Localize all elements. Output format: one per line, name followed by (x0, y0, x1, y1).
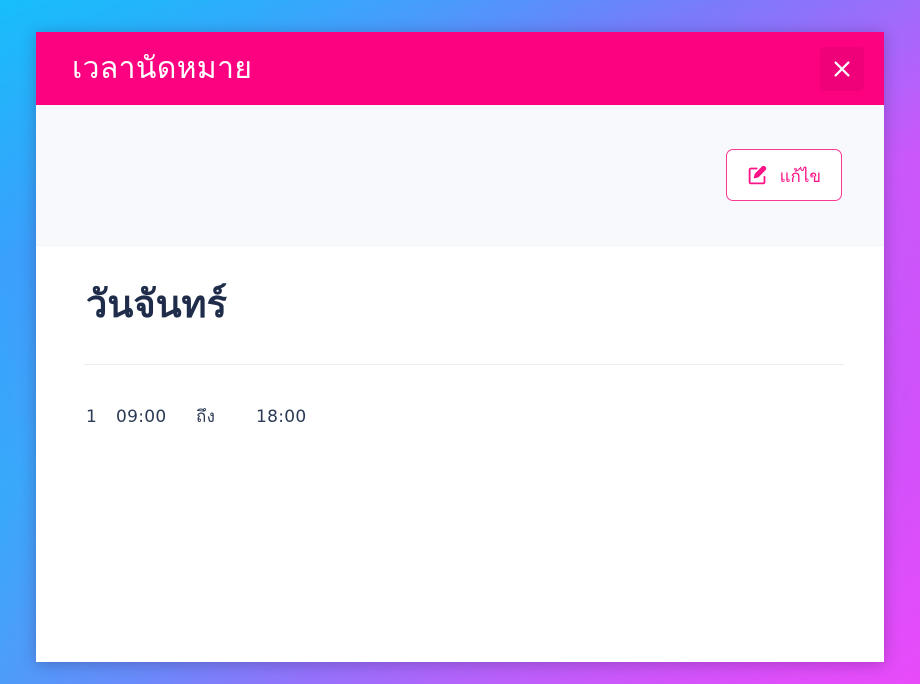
slot-index: 1 (86, 407, 116, 427)
close-icon (831, 58, 853, 80)
modal-body: วันจันทร์ 1 09:00 ถึง 18:00 (36, 246, 884, 662)
edit-button-label: แก้ไข (780, 168, 821, 185)
appointment-time-modal: เวลานัดหมาย แก้ไข วันจันทร์ 1 09:00 ถึง (36, 32, 884, 662)
close-button[interactable] (820, 47, 864, 91)
slot-start-time: 09:00 (116, 407, 190, 427)
modal-header: เวลานัดหมาย (36, 32, 884, 105)
slot-end-time: 18:00 (256, 407, 330, 427)
time-slot-list: 1 09:00 ถึง 18:00 (84, 365, 848, 430)
day-heading: วันจันทร์ (86, 282, 848, 326)
edit-pencil-square-icon (747, 165, 768, 186)
slot-separator-label: ถึง (190, 403, 256, 430)
edit-button[interactable]: แก้ไข (726, 149, 842, 201)
page-title: เวลานัดหมาย (72, 54, 252, 84)
modal-toolbar: แก้ไข (36, 105, 884, 246)
table-row[interactable]: 1 09:00 ถึง 18:00 (84, 365, 848, 430)
